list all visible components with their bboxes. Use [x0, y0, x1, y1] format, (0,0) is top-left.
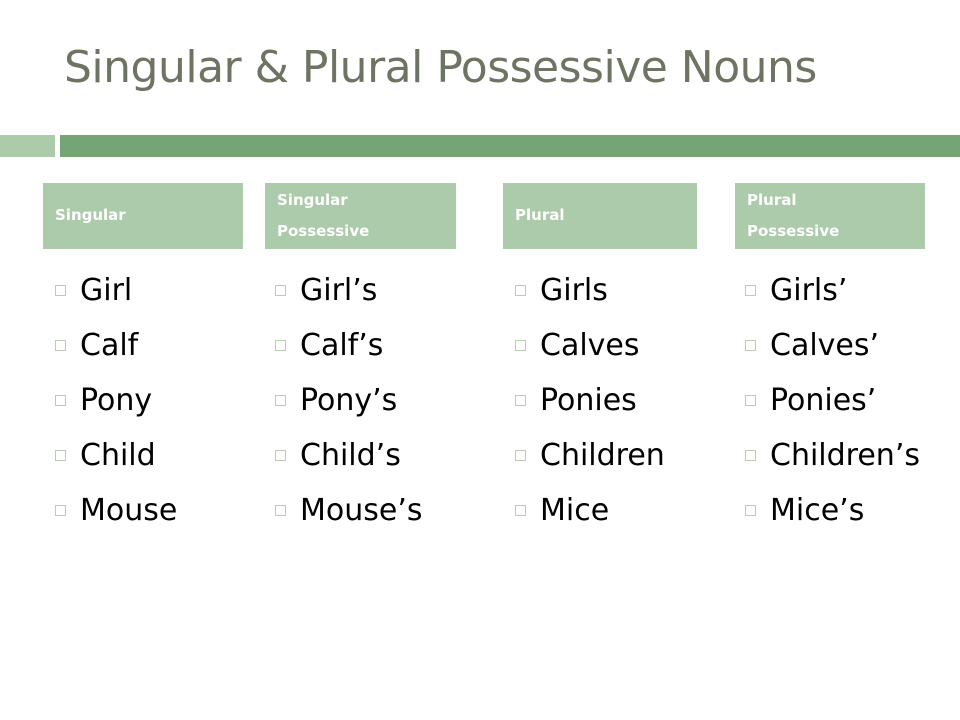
list-item[interactable]: Mouse’s	[275, 483, 456, 538]
column-singular: Singular Girl Calf Pony Child Mouse	[43, 183, 243, 538]
column-plural: Plural Girls Calves Ponies Children Mice	[503, 183, 697, 538]
list-item[interactable]: Calf	[55, 318, 243, 373]
column-header-line: Singular	[55, 200, 243, 231]
list-item[interactable]: Mouse	[55, 483, 243, 538]
square-bullet-icon	[745, 285, 756, 296]
column-header-line: Plural	[747, 185, 925, 216]
list-item[interactable]: Children	[515, 428, 697, 483]
column-header-plural: Plural	[503, 183, 697, 249]
column-header-plural-possessive: Plural Possessive	[735, 183, 925, 249]
column-plural-possessive: Plural Possessive Girls’ Calves’ Ponies’…	[735, 183, 925, 538]
list-item[interactable]: Child	[55, 428, 243, 483]
square-bullet-icon	[515, 285, 526, 296]
list-item[interactable]: Pony	[55, 373, 243, 428]
list-item[interactable]: Girls’	[745, 263, 925, 318]
list-item[interactable]: Children’s	[745, 428, 925, 483]
square-bullet-icon	[55, 505, 66, 516]
list-singular: Girl Calf Pony Child Mouse	[43, 263, 243, 538]
square-bullet-icon	[745, 505, 756, 516]
list-item-label: Pony’s	[300, 383, 397, 418]
square-bullet-icon	[55, 395, 66, 406]
list-item[interactable]: Calf’s	[275, 318, 456, 373]
column-header-singular: Singular	[43, 183, 243, 249]
list-item-label: Children	[540, 438, 665, 473]
list-item-label: Child	[80, 438, 156, 473]
column-header-line: Possessive	[747, 216, 925, 247]
square-bullet-icon	[515, 450, 526, 461]
list-item-label: Mice	[540, 493, 609, 528]
column-header-line: Possessive	[277, 216, 456, 247]
list-item-label: Child’s	[300, 438, 401, 473]
list-item-label: Girls	[540, 273, 608, 308]
list-plural: Girls Calves Ponies Children Mice	[503, 263, 697, 538]
column-header-line: Singular	[277, 185, 456, 216]
list-item[interactable]: Calves	[515, 318, 697, 373]
list-item[interactable]: Ponies’	[745, 373, 925, 428]
list-item-label: Mouse	[80, 493, 177, 528]
list-item[interactable]: Girl’s	[275, 263, 456, 318]
square-bullet-icon	[275, 505, 286, 516]
divider-bar	[60, 135, 960, 157]
list-item-label: Calf’s	[300, 328, 383, 363]
square-bullet-icon	[745, 395, 756, 406]
list-item-label: Pony	[80, 383, 152, 418]
square-bullet-icon	[55, 450, 66, 461]
square-bullet-icon	[745, 450, 756, 461]
square-bullet-icon	[275, 395, 286, 406]
slide-canvas: Singular & Plural Possessive Nouns Singu…	[0, 0, 960, 720]
square-bullet-icon	[745, 340, 756, 351]
list-item[interactable]: Mice	[515, 483, 697, 538]
title-divider	[0, 135, 960, 157]
list-singular-possessive: Girl’s Calf’s Pony’s Child’s Mouse’s	[265, 263, 456, 538]
list-item[interactable]: Girl	[55, 263, 243, 318]
square-bullet-icon	[275, 285, 286, 296]
column-singular-possessive: Singular Possessive Girl’s Calf’s Pony’s…	[265, 183, 456, 538]
list-item[interactable]: Ponies	[515, 373, 697, 428]
column-header-singular-possessive: Singular Possessive	[265, 183, 456, 249]
square-bullet-icon	[275, 340, 286, 351]
list-item-label: Mice’s	[770, 493, 864, 528]
square-bullet-icon	[275, 450, 286, 461]
list-item-label: Girl’s	[300, 273, 377, 308]
list-item-label: Children’s	[770, 438, 920, 473]
divider-accent-block	[0, 135, 55, 157]
square-bullet-icon	[515, 395, 526, 406]
list-item-label: Calf	[80, 328, 138, 363]
column-header-line: Plural	[515, 200, 697, 231]
list-item-label: Girls’	[770, 273, 847, 308]
square-bullet-icon	[515, 505, 526, 516]
square-bullet-icon	[515, 340, 526, 351]
list-item[interactable]: Child’s	[275, 428, 456, 483]
list-item[interactable]: Girls	[515, 263, 697, 318]
list-item-label: Ponies	[540, 383, 637, 418]
page-title: Singular & Plural Possessive Nouns	[64, 44, 924, 92]
list-plural-possessive: Girls’ Calves’ Ponies’ Children’s Mice’s	[735, 263, 925, 538]
list-item-label: Ponies’	[770, 383, 876, 418]
square-bullet-icon	[55, 285, 66, 296]
square-bullet-icon	[55, 340, 66, 351]
list-item[interactable]: Mice’s	[745, 483, 925, 538]
list-item[interactable]: Calves’	[745, 318, 925, 373]
list-item-label: Calves	[540, 328, 640, 363]
list-item-label: Mouse’s	[300, 493, 423, 528]
list-item-label: Calves’	[770, 328, 879, 363]
list-item[interactable]: Pony’s	[275, 373, 456, 428]
list-item-label: Girl	[80, 273, 132, 308]
